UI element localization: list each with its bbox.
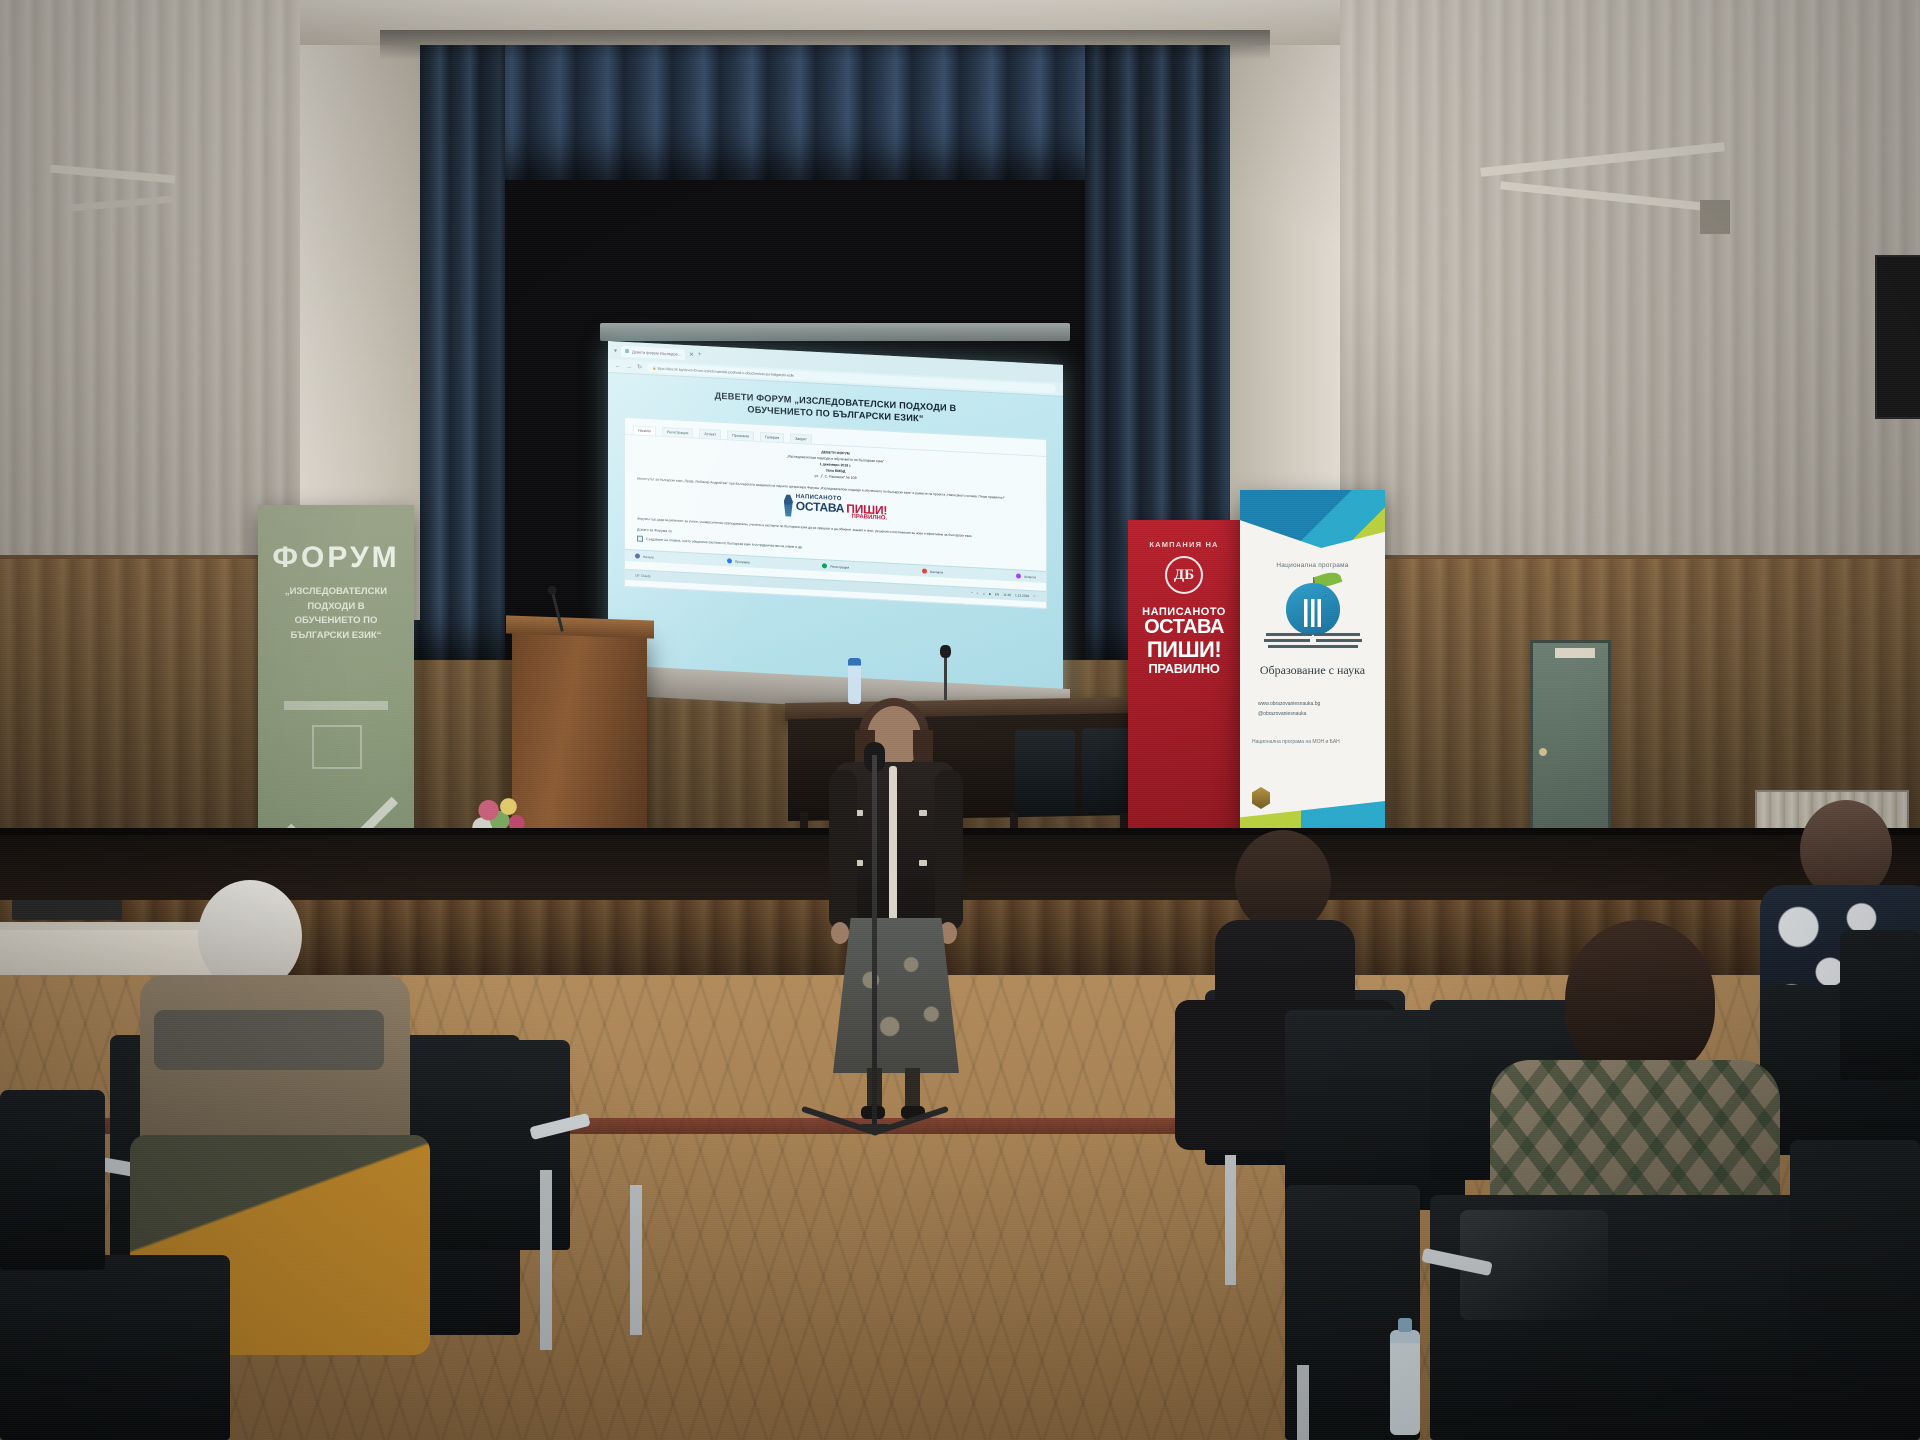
cyrillic-ornament-icon: [784, 495, 793, 517]
star-icon: [1016, 574, 1021, 579]
speaker-person: [815, 700, 975, 1120]
footer-button-registraciya[interactable]: Регистрация: [822, 563, 849, 569]
laptop-icon: [12, 900, 122, 920]
volume-icon[interactable]: ♫: [982, 592, 984, 596]
tab-aspekt[interactable]: Аспект: [699, 429, 721, 439]
stage-chair: [1015, 730, 1075, 815]
banner-blue-contact-0: www.obrazovaniesnauka.bg: [1258, 700, 1385, 710]
footer-button-kontakti[interactable]: Контакти: [922, 569, 943, 575]
banner-green-bar: [284, 701, 388, 710]
form-icon: [822, 563, 827, 568]
favicon-icon: [625, 349, 629, 353]
battery-icon[interactable]: ■: [989, 592, 991, 596]
banner-blue-footer-note: Национална програма на МОН и БАН: [1252, 739, 1385, 745]
taskbar-tray: ^ ◓ ♫ ■ EN 11:48 1.12.2018 ⚐: [971, 591, 1036, 598]
taskbar-time: 11:48: [1003, 593, 1011, 597]
close-icon[interactable]: ✕: [689, 351, 694, 358]
back-arrow-icon[interactable]: ←: [615, 363, 621, 369]
banner-green-sub-3: БЪЛГАРСКИ ЕЗИК“: [272, 629, 400, 644]
coat-of-arms-icon: [1252, 787, 1270, 809]
chair-far-left[interactable]: [0, 1090, 105, 1270]
chevron-up-icon[interactable]: ^: [971, 591, 973, 595]
doc-icon: [727, 558, 732, 563]
tab-registraciya[interactable]: Регистрация: [662, 427, 694, 438]
projection-screen: ▾ Девети форум Изследов... ✕ + ← → ↻ 🔒 h…: [608, 341, 1063, 705]
keyboard-lang-icon[interactable]: EN: [995, 592, 999, 596]
db-monogram-icon: ДБ: [1165, 556, 1203, 594]
banner-red-line3: ПИШИ!: [1128, 640, 1240, 661]
page-check-text: Създаване на плавна, която общинено сист…: [646, 537, 803, 549]
footer-button-programa[interactable]: Програма: [727, 558, 750, 564]
banner-green-sub: „ИЗСЛЕДОВАТЕЛСКИ ПОДХОДИ В ОБУЧЕНИЕТО ПО…: [258, 575, 414, 644]
tab-programa[interactable]: Програма: [727, 430, 754, 440]
chair-front-right[interactable]: [1430, 1195, 1800, 1440]
microphone-stand: [872, 755, 877, 1125]
bell-icon[interactable]: ⚐: [1033, 594, 1036, 598]
banner-red-campaign-label: КАМПАНИЯ НА: [1128, 520, 1240, 549]
address-value: https://dbezik.bg/devet-forum-izsledovat…: [657, 366, 795, 377]
checkbox-icon[interactable]: [637, 536, 643, 542]
weather-value: 18° Cloudy: [635, 574, 651, 579]
banner-green-sub-1: ПОДХОДИ В: [272, 600, 400, 615]
tab-zakrit[interactable]: Закрит: [790, 433, 812, 443]
new-tab-icon[interactable]: +: [698, 352, 702, 358]
chair-front-far-right[interactable]: [1790, 1140, 1920, 1440]
footer-label-0: Начало: [643, 555, 654, 560]
tab-galeriya[interactable]: Галерия: [760, 432, 784, 442]
microphone-base: [800, 1118, 950, 1128]
banner-green-sub-0: „ИЗСЛЕДОВАТЕЛСКИ: [272, 585, 400, 600]
taskbar-weather[interactable]: 18° Cloudy: [635, 574, 651, 579]
banner-red-line4: ПРАВИЛНО: [1128, 661, 1240, 676]
apple-book-icon: [1282, 577, 1344, 637]
banner-blue-contacts: www.obrazovaniesnauka.bg @obrazovaniesna…: [1258, 700, 1385, 719]
home-icon: [635, 554, 640, 559]
chair-front-left-3[interactable]: [0, 1255, 230, 1440]
chair-far-right[interactable]: [1840, 930, 1920, 1080]
banner-green-title: ФОРУМ: [258, 505, 414, 575]
banner-blue-contact-1: @obrazovaniesnauka: [1258, 710, 1385, 720]
screen-housing: [600, 323, 1070, 341]
page-card: Начало Регистрация Аспект Програма Галер…: [624, 417, 1047, 609]
footer-label-4: Аспекти: [1024, 574, 1036, 579]
door-knob-icon: [1539, 748, 1547, 756]
reload-icon[interactable]: ↻: [637, 364, 642, 371]
footer-label-2: Регистрация: [830, 564, 849, 569]
footer-label-3: Контакти: [930, 570, 943, 575]
footer-label-1: Програма: [735, 559, 750, 564]
taskbar-date: 1.12.2018: [1015, 593, 1029, 598]
mail-icon: [922, 569, 927, 574]
browser-tab-label: Девети форум Изследов...: [632, 349, 681, 357]
wifi-icon[interactable]: ◓: [977, 591, 979, 595]
logo-ostava: ОСТАВА: [796, 500, 844, 514]
lectern: [512, 623, 647, 858]
banner-red-line2: ОСТАВА: [1128, 618, 1240, 637]
footer-button-aspekti[interactable]: Аспекти: [1016, 574, 1036, 580]
book-icon: [1264, 631, 1362, 655]
footer-button-nachalo[interactable]: Начало: [635, 554, 654, 560]
banner-forum-green: ФОРУМ „ИЗСЛЕДОВАТЕЛСКИ ПОДХОДИ В ОБУЧЕНИ…: [258, 505, 414, 865]
table-microphone-icon: [944, 655, 947, 700]
banner-green-sub-2: ОБУЧЕНИЕТО ПО: [272, 614, 400, 629]
water-bottle: [848, 658, 861, 704]
forward-arrow-icon[interactable]: →: [626, 363, 632, 369]
tab-nachalo[interactable]: Начало: [633, 425, 656, 435]
photo-scene: ▾ Девети форум Изследов... ✕ + ← → ↻ 🔒 h…: [0, 0, 1920, 1440]
proscenium-shadow: [380, 30, 1270, 60]
loudspeaker-icon: [1875, 255, 1920, 419]
banner-campaign-red: КАМПАНИЯ НА ДБ НАПИСАНОТО ОСТАВА ПИШИ! П…: [1128, 520, 1240, 830]
floor-water-bottle: [1390, 1330, 1420, 1435]
browser-menu-icon[interactable]: ▾: [614, 347, 617, 354]
banner-national-program-blue: Национална програма Образование с наука …: [1240, 490, 1385, 835]
door-sign: [1555, 648, 1595, 658]
browser-tab[interactable]: Девети форум Изследов...: [621, 345, 685, 359]
banner-blue-name: Образование с наука: [1240, 663, 1385, 678]
wall-light-fixture-right-3: [1700, 200, 1730, 234]
